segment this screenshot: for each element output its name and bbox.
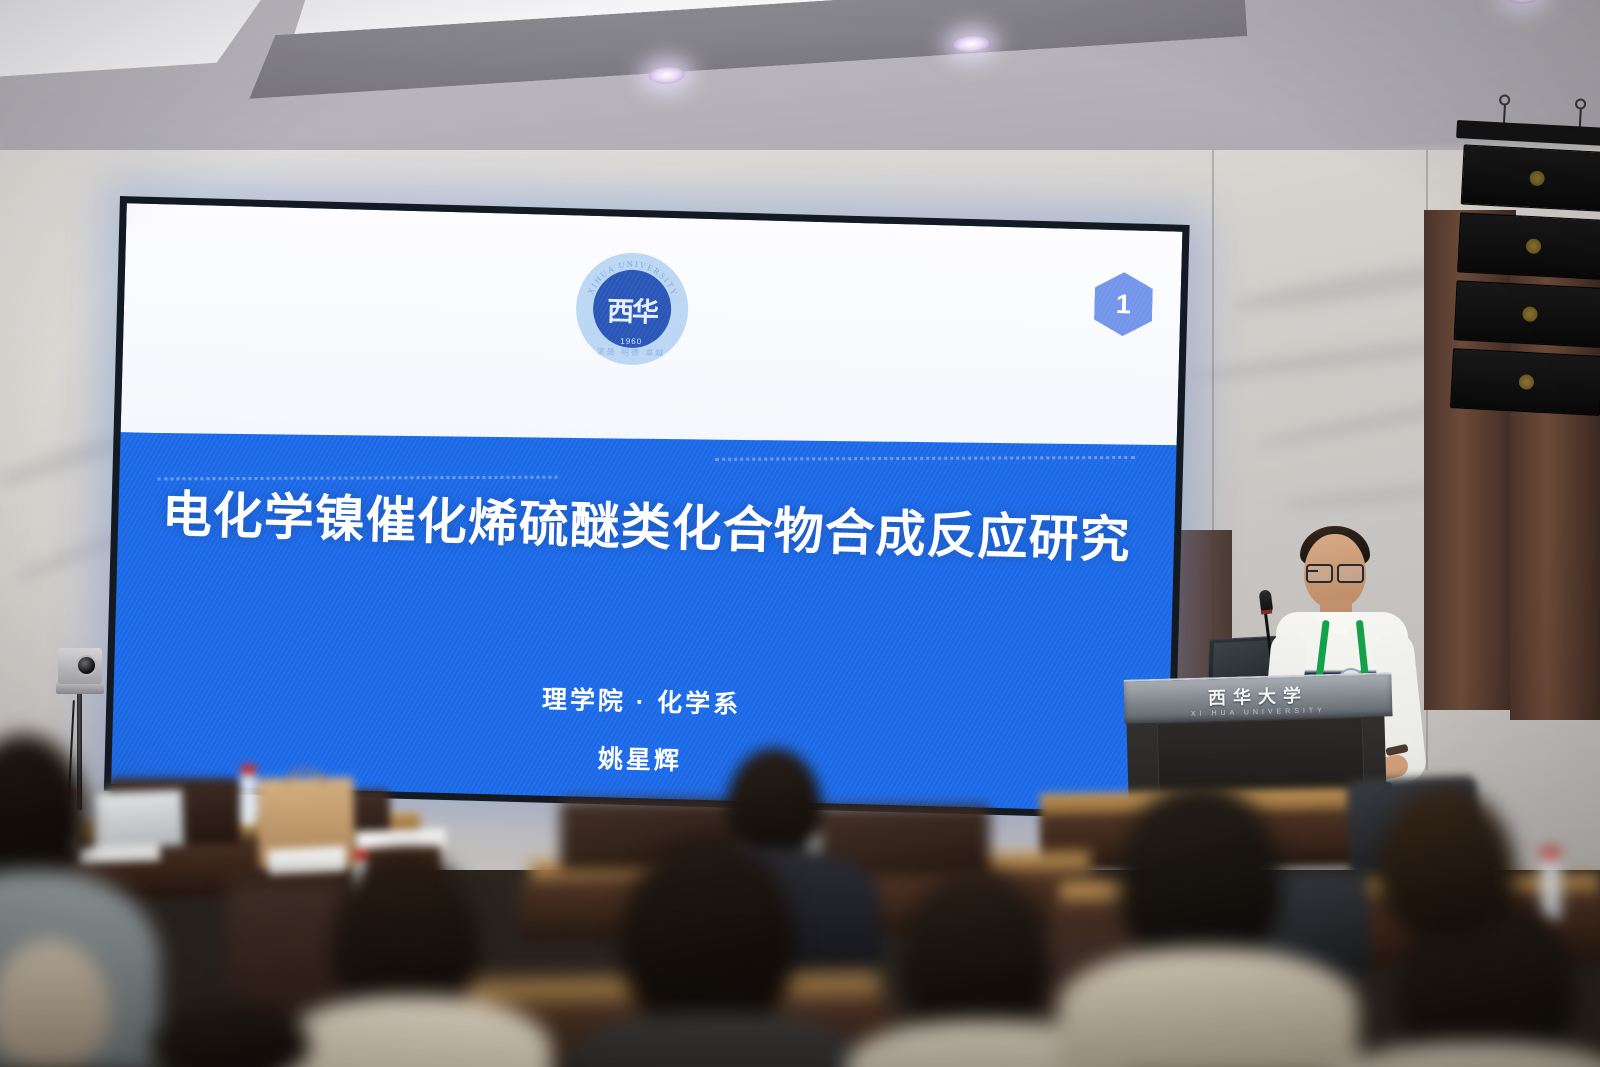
speaker-module	[1450, 348, 1600, 416]
audience-shoulders	[1330, 1042, 1600, 1067]
bottle-cap	[353, 850, 368, 861]
xihua-university-seal-icon: XIHUA UNIVERSITY 西华 1960 求是 明德 卓越	[575, 251, 690, 366]
presentation-screen[interactable]: XIHUA UNIVERSITY 西华 1960 求是 明德 卓越 1 电化学镍…	[104, 196, 1190, 820]
page-number-value: 1	[1116, 288, 1132, 319]
downlight-icon	[648, 65, 685, 84]
lecture-hall-scene: XIHUA UNIVERSITY 西华 1960 求是 明德 卓越 1 电化学镍…	[0, 0, 1600, 1067]
paper-stack	[78, 845, 161, 864]
paper-stack	[356, 828, 447, 849]
bottle-cap	[1541, 848, 1560, 859]
line-array-speaker-stack	[1440, 136, 1600, 454]
downlight-icon	[1505, 0, 1542, 5]
slide-title: 电化学镍催化烯硫醚类化合物合成反应研究	[118, 473, 1176, 574]
audience-laptop	[91, 788, 185, 849]
slide: XIHUA UNIVERSITY 西华 1960 求是 明德 卓越 1 电化学镍…	[111, 203, 1182, 812]
bottle-cap	[241, 764, 256, 775]
speaker-module	[1461, 144, 1600, 212]
water-bottle	[1540, 858, 1562, 920]
paper-napkin	[267, 846, 346, 876]
decorative-dotted-line	[715, 456, 1135, 461]
speaker-module	[1457, 212, 1600, 280]
speaker-module	[1454, 280, 1600, 348]
podium-nameplate: 西华大学 XI HUA UNIVERSITY	[1123, 672, 1392, 723]
camera-lens-icon	[76, 655, 97, 676]
svg-text:XIHUA UNIVERSITY: XIHUA UNIVERSITY	[585, 257, 681, 298]
audience-shoulders	[1058, 948, 1358, 1067]
slide-subtitle-department: 理学院 · 化学系	[113, 668, 1170, 733]
